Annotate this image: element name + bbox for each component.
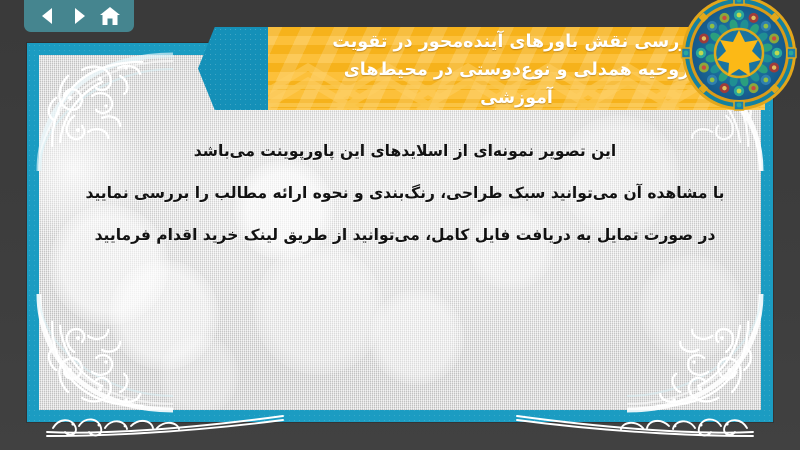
persian-medallion-icon [680, 0, 798, 112]
body-line: با مشاهده آن می‌توانید سبک طراحی، رنگ‌بن… [50, 172, 760, 214]
title-line: آموزشی [480, 84, 553, 112]
slide-body-text: این تصویر نمونه‌ای از اسلایدهای این پاور… [50, 130, 760, 256]
slide-root: این تصویر نمونه‌ای از اسلایدهای این پاور… [0, 0, 800, 450]
triangle-left-icon[interactable] [37, 5, 59, 27]
title-line: بررسی نقش باورهای آینده‌محور در تقویت [332, 28, 697, 56]
home-icon[interactable] [99, 5, 121, 27]
body-line: این تصویر نمونه‌ای از اسلایدهای این پاور… [50, 130, 760, 172]
navigation-bar[interactable] [24, 0, 134, 32]
title-line: روحیه همدلی و نوع‌دوستی در محیط‌های [344, 56, 689, 84]
triangle-right-icon[interactable] [68, 5, 90, 27]
body-line: در صورت تمایل به دریافت فایل کامل، می‌تو… [50, 214, 760, 256]
